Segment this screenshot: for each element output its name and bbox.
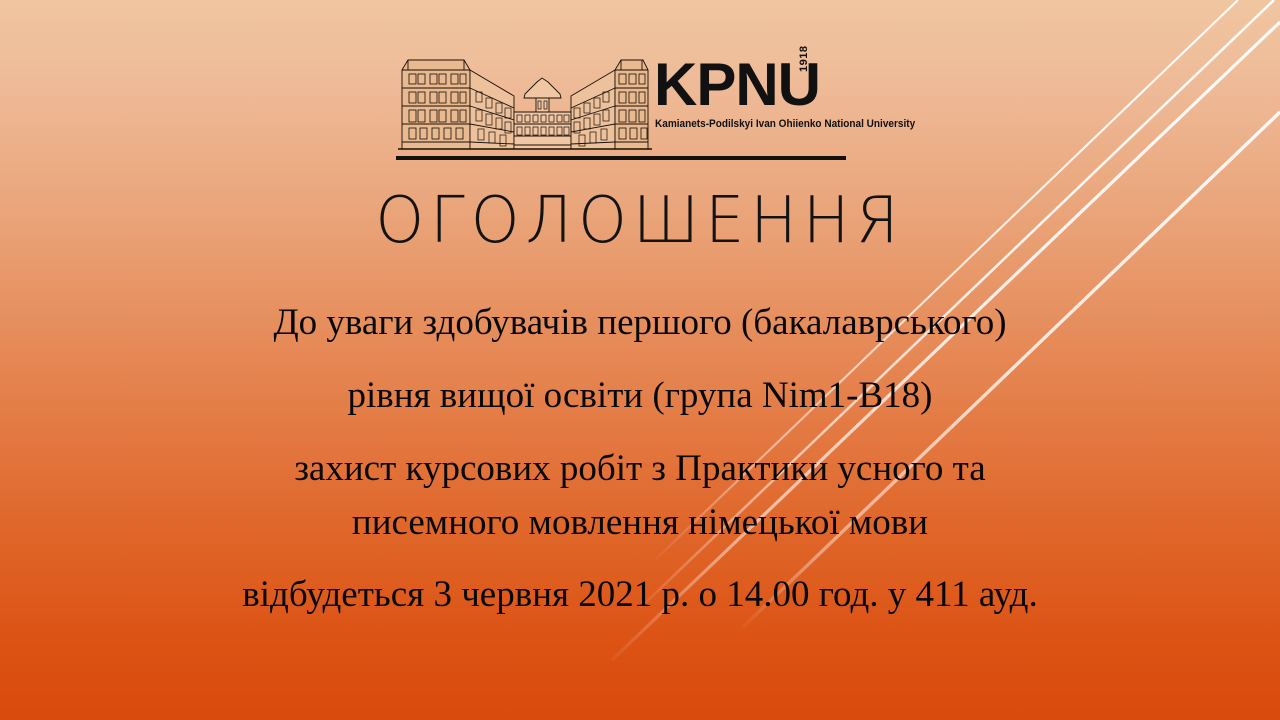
- page-title: ОГОЛОШЕННЯ: [0, 182, 1280, 258]
- announcement-slide: KPNU 1918 Kamianets-Podilskyi Ivan Ohiie…: [0, 0, 1280, 720]
- kpnu-letters: KPNU: [654, 54, 820, 116]
- kpnu-wordmark: KPNU 1918 Kamianets-Podilskyi Ivan Ohiie…: [654, 54, 848, 154]
- kpnu-logo: KPNU 1918 Kamianets-Podilskyi Ivan Ohiie…: [396, 52, 848, 162]
- logo-underline-rule: [396, 156, 846, 160]
- kpnu-founding-year: 1918: [798, 46, 810, 72]
- body-paragraph-4: відбудеться 3 червня 2021 р. о 14.00 год…: [0, 568, 1280, 622]
- announcement-body: До уваги здобувачів першого (бакалаврськ…: [0, 296, 1280, 622]
- body-paragraph-2: рівня вищої освіти (група Nim1-B18): [0, 369, 1280, 423]
- body-paragraph-1: До уваги здобувачів першого (бакалаврськ…: [0, 296, 1280, 350]
- university-building-icon: [396, 52, 654, 154]
- body-paragraph-3: захист курсових робіт з Практики усного …: [0, 442, 1280, 550]
- kpnu-university-name: Kamianets-Podilskyi Ivan Ohiienko Nation…: [655, 118, 915, 130]
